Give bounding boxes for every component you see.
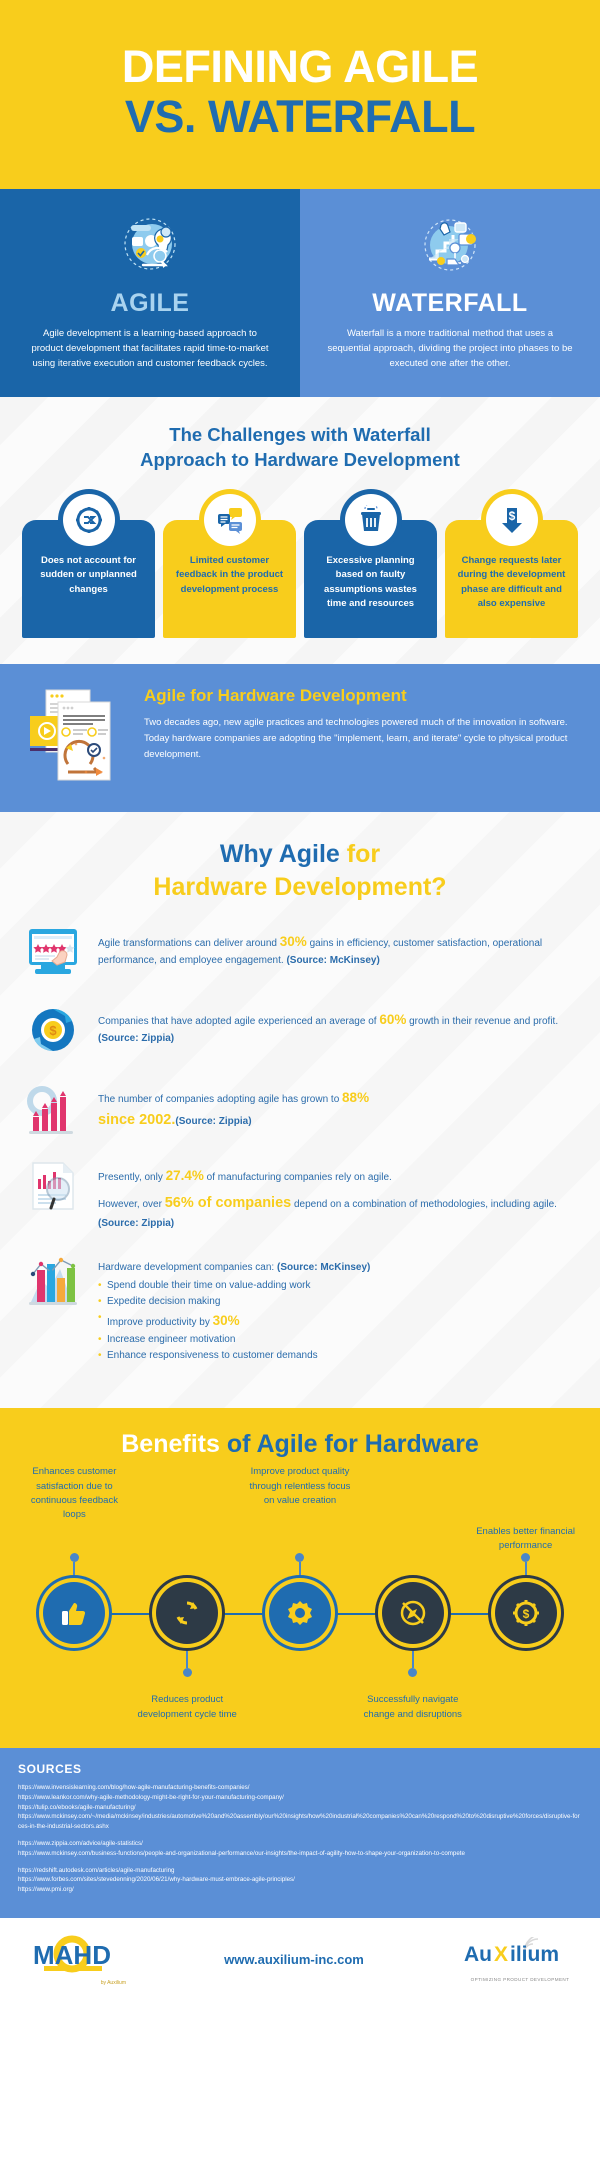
auxilium-logo: Au X ilium OPTIMIZING PRODUCT DEVELOPMEN… xyxy=(462,1937,578,1982)
stat-row-4: Presently, only 27.4% of manufacturing c… xyxy=(22,1157,578,1232)
stem-5 xyxy=(469,1553,582,1580)
sources-group-3: https://redshift.autodesk.com/articles/a… xyxy=(18,1866,582,1895)
benefit-labels-top: Enhances customer satisfaction due to co… xyxy=(18,1465,582,1553)
source-link[interactable]: https://www.zippia.com/advice/agile-stat… xyxy=(18,1839,582,1849)
agile-title: AGILE xyxy=(26,289,274,318)
banner-heading: Agile for Hardware Development xyxy=(144,686,576,706)
stat-row-4-text: Presently, only 27.4% of manufacturing c… xyxy=(98,1157,578,1232)
stem-line xyxy=(186,1650,188,1668)
benefit-circle-wrap-3 xyxy=(244,1582,357,1644)
bullet-3-pre: Improve productivity by xyxy=(107,1317,213,1328)
benefit-circle-wrap-5: $ xyxy=(469,1582,582,1644)
source-link[interactable]: https://www.leankor.com/why-agile-method… xyxy=(18,1793,582,1803)
stat-4-line2-post: depend on a combination of methodologies… xyxy=(291,1199,557,1210)
gear-shuffle-icon xyxy=(63,494,115,546)
sources-group-1: https://www.invensislearning.com/blog/ho… xyxy=(18,1783,582,1832)
stat-5-bullet-list: Spend double their time on value-adding … xyxy=(98,1278,370,1365)
waterfall-steps-icon xyxy=(326,211,574,281)
svg-text:$: $ xyxy=(49,1023,57,1038)
infographic-page: DEFINING AGILE VS. WATERFALL xyxy=(0,0,600,2004)
stem-1 xyxy=(18,1553,131,1580)
refresh-cycle-icon xyxy=(156,1582,218,1644)
stat-row-2: $ Companies that have adopted agile expe… xyxy=(22,1001,578,1059)
challenge-card-3: Excessive planning based on faulty assum… xyxy=(304,494,437,638)
stat-row-3-text: The number of companies adopting agile h… xyxy=(98,1079,369,1132)
stat-4-line2-highlight: 56% of companies xyxy=(165,1195,292,1211)
stem-line xyxy=(73,1562,75,1580)
benefits-title: Benefits of Agile for Hardware xyxy=(18,1430,582,1459)
challenge-card-2: Limited customer feedback in the product… xyxy=(163,494,296,638)
sources-title: SOURCES xyxy=(18,1762,582,1776)
stem-line xyxy=(525,1562,527,1580)
stat-4-source: (Source: Zippia) xyxy=(98,1218,174,1229)
stem-b1 xyxy=(18,1650,131,1677)
stem-dot xyxy=(521,1553,530,1562)
stem-b3 xyxy=(244,1650,357,1677)
trash-planning-icon xyxy=(345,494,397,546)
monitor-stars-rating-icon xyxy=(22,923,84,981)
stat-5-source: (Source: McKinsey) xyxy=(277,1262,370,1273)
svg-text:X: X xyxy=(494,1943,508,1966)
stat-2-post: growth in their revenue and profit. xyxy=(406,1016,558,1027)
benefit-label-4: Successfully navigate change and disrupt… xyxy=(356,1693,469,1722)
benefits-title-part-1: Benefits xyxy=(121,1430,227,1458)
svg-text:ilium: ilium xyxy=(510,1943,559,1966)
hero-line-2: VS. WATERFALL xyxy=(24,92,576,142)
sources-section: SOURCES https://www.invensislearning.com… xyxy=(0,1748,600,1918)
list-item: Enhance responsiveness to customer deman… xyxy=(98,1348,370,1364)
benefit-circles: $ xyxy=(18,1582,582,1644)
challenge-card-4: $ Change requests later during the devel… xyxy=(445,494,578,638)
svg-text:Au: Au xyxy=(464,1943,492,1966)
challenge-cards: Does not account for sudden or unplanned… xyxy=(14,494,586,638)
why-title-part-2: for xyxy=(347,840,380,868)
stat-row-1-text: Agile transformations can deliver around… xyxy=(98,923,578,969)
banner-text-block: Agile for Hardware Development Two decad… xyxy=(144,686,576,762)
stem-b2 xyxy=(131,1650,244,1677)
benefit-labels-bottom: Reduces product development cycle time S… xyxy=(18,1693,582,1722)
bullet-1-pre: Spend double their time on value-adding … xyxy=(107,1280,310,1291)
benefit-label-3-spacer xyxy=(244,1693,357,1722)
quality-badge-icon xyxy=(269,1582,331,1644)
waterfall-title: WATERFALL xyxy=(326,289,574,318)
source-link[interactable]: https://www.invensislearning.com/blog/ho… xyxy=(18,1783,582,1793)
stat-3-source: (Source: Zippia) xyxy=(175,1116,251,1127)
agile-description: Agile development is a learning-based ap… xyxy=(26,326,274,372)
comparison-section: AGILE Agile development is a learning-ba… xyxy=(0,189,600,398)
stat-3-pre: The number of companies adopting agile h… xyxy=(98,1094,342,1105)
stat-2-source: (Source: Zippia) xyxy=(98,1033,174,1044)
stat-4-line1-highlight: 27.4% xyxy=(166,1168,204,1183)
stat-4-line1-pre: Presently, only xyxy=(98,1172,166,1183)
stem-line xyxy=(412,1650,414,1668)
waterfall-description: Waterfall is a more traditional method t… xyxy=(326,326,574,372)
bullet-3-highlight: 30% xyxy=(213,1313,240,1328)
list-item: Increase engineer motivation xyxy=(98,1332,370,1348)
website-url[interactable]: www.auxilium-inc.com xyxy=(224,1952,364,1967)
why-title-line-2: Hardware Development? xyxy=(153,873,446,901)
stat-1-pre: Agile transformations can deliver around xyxy=(98,938,280,949)
stem-dot xyxy=(295,1553,304,1562)
stat-1-source: (Source: McKinsey) xyxy=(286,955,379,966)
stat-row-5-text: Hardware development companies can: (Sou… xyxy=(98,1252,370,1365)
benefit-label-2-spacer xyxy=(131,1465,244,1553)
stat-5-heading-line: Hardware development companies can: (Sou… xyxy=(98,1260,370,1276)
benefit-label-4-spacer xyxy=(356,1465,469,1553)
footer: MAHD by Auxilium www.auxilium-inc.com Au… xyxy=(0,1918,600,2004)
hero-section: DEFINING AGILE VS. WATERFALL xyxy=(0,0,600,189)
agile-cycle-icon xyxy=(26,211,274,281)
benefit-label-5-spacer xyxy=(469,1693,582,1722)
benefits-section: Benefits of Agile for Hardware Enhances … xyxy=(0,1408,600,1748)
stem-b5 xyxy=(469,1650,582,1677)
stem-2 xyxy=(131,1553,244,1580)
benefit-label-2: Reduces product development cycle time xyxy=(131,1693,244,1722)
svg-text:$: $ xyxy=(508,509,515,523)
challenges-title-line-2: Approach to Hardware Development xyxy=(140,449,460,470)
challenge-card-1: Does not account for sudden or unplanned… xyxy=(22,494,155,638)
documents-iterate-icon xyxy=(24,686,128,786)
stat-row-5: Hardware development companies can: (Sou… xyxy=(22,1252,578,1365)
benefit-circle-wrap-1 xyxy=(18,1582,131,1644)
stem-3 xyxy=(244,1553,357,1580)
source-link[interactable]: https://www.forbes.com/sites/stevedennin… xyxy=(18,1875,582,1885)
banner-paragraph: Two decades ago, new agile practices and… xyxy=(144,715,576,762)
why-agile-title: Why Agile for Hardware Development? xyxy=(22,838,578,903)
benefit-stems-bottom xyxy=(18,1650,582,1677)
benefit-circle-wrap-4 xyxy=(356,1582,469,1644)
money-cycle-icon: $ xyxy=(22,1001,84,1059)
benefit-label-5: Enables better financial performance xyxy=(469,1525,582,1554)
benefits-title-part-2: of Agile for Hardware xyxy=(227,1430,479,1458)
benefit-label-1-spacer xyxy=(18,1693,131,1722)
bullet-2-pre: Expedite decision making xyxy=(107,1296,220,1307)
stat-3-highlight: 88% xyxy=(342,1090,369,1105)
challenges-section: The Challenges with Waterfall Approach t… xyxy=(0,397,600,664)
sources-group-2: https://www.zippia.com/advice/agile-stat… xyxy=(18,1839,582,1859)
stat-5-heading: Hardware development companies can: xyxy=(98,1262,277,1273)
stat-2-highlight: 60% xyxy=(379,1012,406,1027)
agile-column: AGILE Agile development is a learning-ba… xyxy=(0,189,300,398)
stem-b4 xyxy=(356,1650,469,1677)
source-link[interactable]: https://redshift.autodesk.com/articles/a… xyxy=(18,1866,582,1876)
list-item: Improve productivity by 30% xyxy=(98,1310,370,1332)
list-item: Expedite decision making xyxy=(98,1294,370,1310)
stat-4-line-2: However, over 56% of companies depend on… xyxy=(98,1192,578,1232)
report-magnifier-icon xyxy=(22,1157,84,1215)
stat-row-2-text: Companies that have adopted agile experi… xyxy=(98,1001,578,1047)
stem-dot xyxy=(408,1668,417,1677)
bullet-4-pre: Increase engineer motivation xyxy=(107,1334,235,1345)
compass-navigate-icon xyxy=(382,1582,444,1644)
mahd-logo-subtitle: by Auxilium xyxy=(22,1980,126,1986)
stem-dot xyxy=(70,1553,79,1562)
dollar-gear-icon: $ xyxy=(495,1582,557,1644)
benefit-label-1: Enhances customer satisfaction due to co… xyxy=(18,1465,131,1553)
challenges-title-line-1: The Challenges with Waterfall xyxy=(169,424,430,445)
chat-feedback-icon xyxy=(204,494,256,546)
bullet-5-pre: Enhance responsiveness to customer deman… xyxy=(107,1350,318,1361)
stat-4-line-1: Presently, only 27.4% of manufacturing c… xyxy=(98,1165,578,1187)
benefit-circle-wrap-2 xyxy=(131,1582,244,1644)
stem-4 xyxy=(356,1553,469,1580)
dollar-down-arrow-icon: $ xyxy=(486,494,538,546)
stat-row-1: Agile transformations can deliver around… xyxy=(22,923,578,981)
growth-chart-gear-icon xyxy=(22,1079,84,1137)
page-title: DEFINING AGILE VS. WATERFALL xyxy=(24,42,576,143)
waterfall-column: WATERFALL Waterfall is a more traditiona… xyxy=(300,189,600,398)
stem-line xyxy=(299,1562,301,1580)
stat-row-3: The number of companies adopting agile h… xyxy=(22,1079,578,1137)
mahd-logo: MAHD by Auxilium xyxy=(22,1934,126,1986)
hero-line-1: DEFINING AGILE xyxy=(24,42,576,92)
source-link[interactable]: https://www.mckinsey.com/business-functi… xyxy=(18,1849,582,1859)
stem-dot xyxy=(183,1668,192,1677)
bar-chart-analytics-icon xyxy=(22,1252,84,1310)
thumbs-up-icon xyxy=(43,1582,105,1644)
source-link[interactable]: https://www.pmi.org/ xyxy=(18,1885,582,1895)
why-title-part-1: Why Agile xyxy=(220,840,347,868)
why-agile-section: Why Agile for Hardware Development? xyxy=(0,812,600,1408)
list-item: Spend double their time on value-adding … xyxy=(98,1278,370,1294)
stat-2-pre: Companies that have adopted agile experi… xyxy=(98,1016,379,1027)
agile-hardware-banner: Agile for Hardware Development Two decad… xyxy=(0,664,600,812)
challenges-title: The Challenges with Waterfall Approach t… xyxy=(14,423,586,472)
svg-text:$: $ xyxy=(522,1607,529,1621)
benefit-label-3: Improve product quality through relentle… xyxy=(244,1465,357,1553)
stat-4-line1-post: of manufacturing companies rely on agile… xyxy=(204,1172,392,1183)
stat-3-highlight-2: since 2002. xyxy=(98,1112,175,1128)
benefit-stems-top xyxy=(18,1553,582,1580)
source-link[interactable]: https://tulip.co/ebooks/agile-manufactur… xyxy=(18,1803,582,1813)
stat-1-highlight: 30% xyxy=(280,934,307,949)
stat-4-line2-pre: However, over xyxy=(98,1199,165,1210)
source-link[interactable]: https://www.mckinsey.com/~/media/mckinse… xyxy=(18,1812,582,1832)
svg-text:MAHD: MAHD xyxy=(33,1940,111,1970)
auxilium-logo-subtitle: OPTIMIZING PRODUCT DEVELOPMENT xyxy=(462,1977,578,1982)
